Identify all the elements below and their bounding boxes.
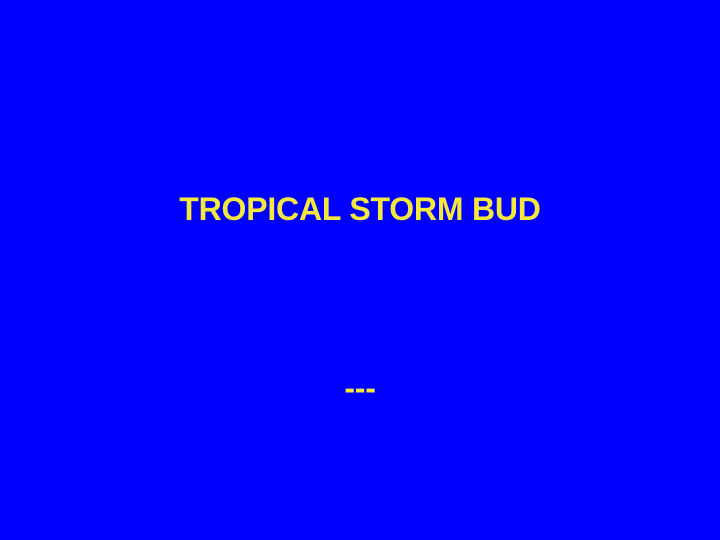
title-line-separator: --- — [0, 366, 720, 411]
title-line-storm-name: TROPICAL STORM BUD — [0, 187, 720, 231]
presentation-slide: TROPICAL STORM BUD --- SECOND STORM OF 2… — [0, 0, 720, 540]
slide-title-block: TROPICAL STORM BUD --- SECOND STORM OF 2… — [0, 52, 720, 540]
